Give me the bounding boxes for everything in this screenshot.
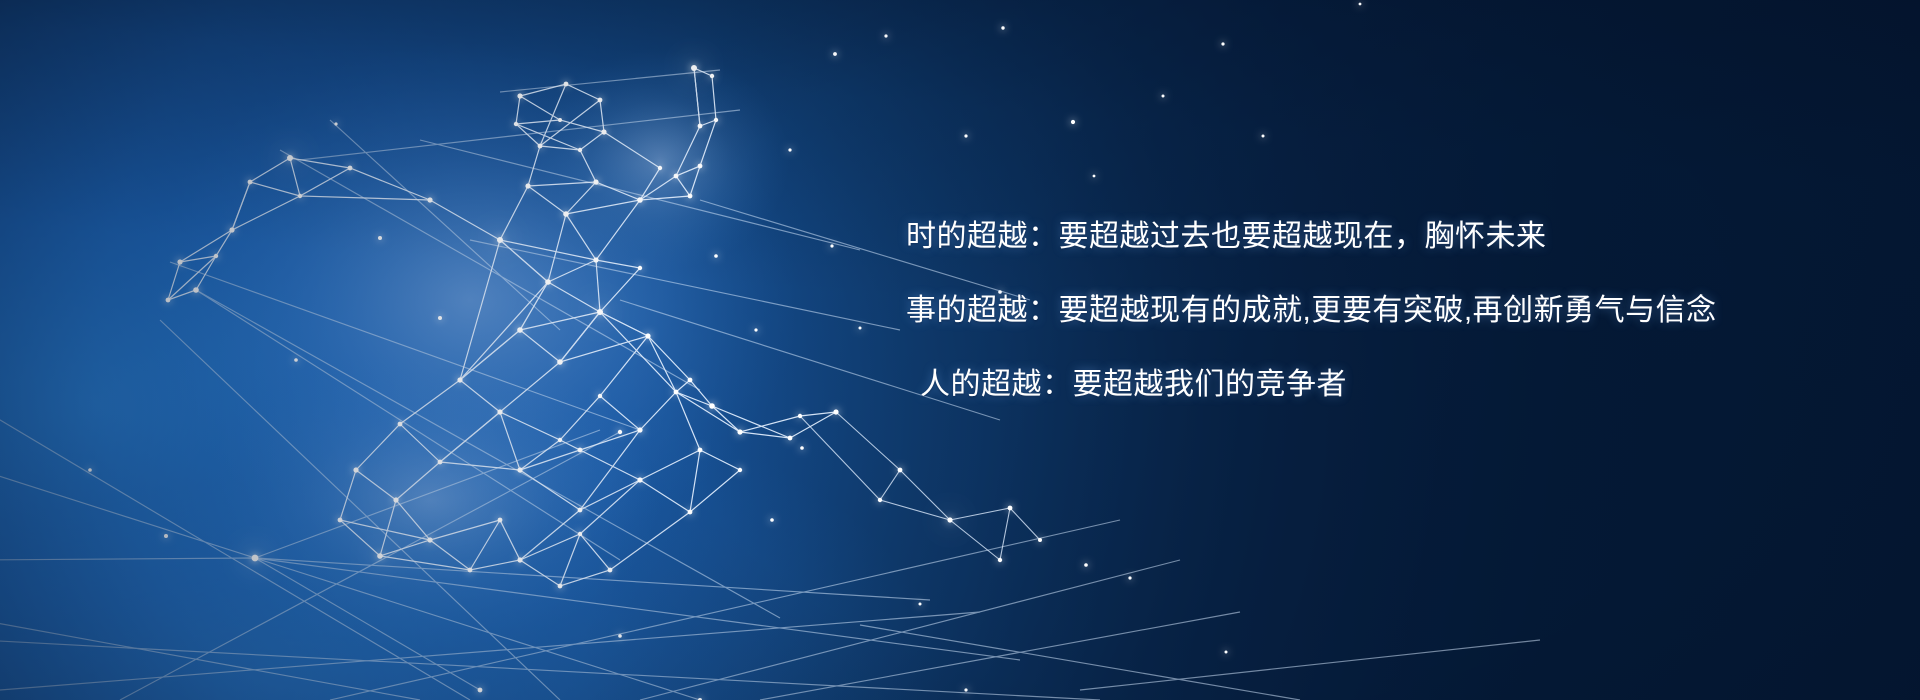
tagline-people: 人的超越：要超越我们的竞争者 [906, 370, 1866, 400]
tagline-time: 时的超越：要超越过去也要超越现在，胸怀未来 [906, 222, 1866, 252]
hero-banner: 时的超越：要超越过去也要超越现在，胸怀未来 事的超越：要超越现有的成就,更要有突… [0, 0, 1920, 700]
tagline-matter: 事的超越：要超越现有的成就,更要有突破,再创新勇气与信念 [906, 296, 1866, 326]
tagline-group: 时的超越：要超越过去也要超越现在，胸怀未来 事的超越：要超越现有的成就,更要有突… [906, 222, 1866, 400]
